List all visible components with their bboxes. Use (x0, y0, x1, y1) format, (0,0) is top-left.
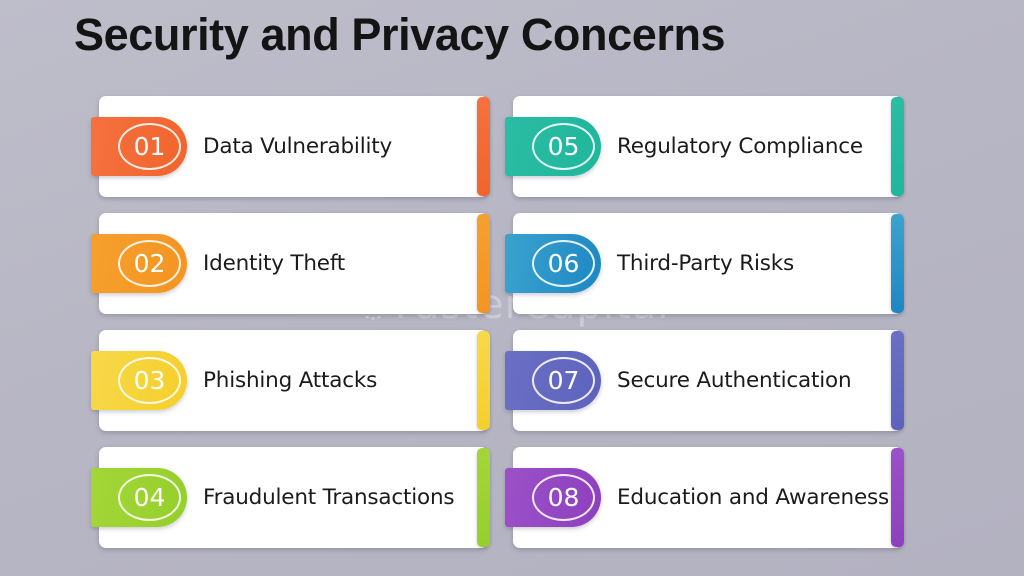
badge-oval-outline: 03 (118, 357, 181, 404)
card-number-badge: 03 (91, 351, 187, 410)
card-number: 08 (548, 485, 580, 511)
card-label: Identity Theft (203, 213, 481, 314)
slide-canvas: FasterCapital Security and Privacy Conce… (0, 0, 1024, 576)
badge-oval-outline: 08 (532, 474, 595, 521)
card-label: Data Vulnerability (203, 96, 481, 197)
card-number: 02 (134, 251, 166, 277)
card-number-badge: 04 (91, 468, 187, 527)
card-number-badge: 02 (91, 234, 187, 293)
concern-card-01[interactable]: 01 Data Vulnerability (99, 96, 488, 197)
card-number-badge: 07 (505, 351, 601, 410)
card-number: 01 (134, 134, 166, 160)
card-label: Fraudulent Transactions (203, 447, 481, 548)
card-number: 05 (548, 134, 580, 160)
card-label: Third-Party Risks (617, 213, 895, 314)
card-number: 06 (548, 251, 580, 277)
concern-card-02[interactable]: 02 Identity Theft (99, 213, 488, 314)
card-number-badge: 06 (505, 234, 601, 293)
card-number: 07 (548, 368, 580, 394)
card-label: Education and Awareness (617, 447, 895, 548)
concern-card-07[interactable]: 07 Secure Authentication (513, 330, 902, 431)
badge-oval-outline: 06 (532, 240, 595, 287)
card-number: 04 (134, 485, 166, 511)
concern-card-grid: 01 Data Vulnerability 02 Identity Theft (0, 96, 1024, 566)
concern-card-08[interactable]: 08 Education and Awareness (513, 447, 902, 548)
badge-oval-outline: 05 (532, 123, 595, 170)
badge-oval-outline: 01 (118, 123, 181, 170)
card-number-badge: 01 (91, 117, 187, 176)
card-label: Secure Authentication (617, 330, 895, 431)
card-label: Regulatory Compliance (617, 96, 895, 197)
badge-oval-outline: 02 (118, 240, 181, 287)
badge-oval-outline: 07 (532, 357, 595, 404)
card-number: 03 (134, 368, 166, 394)
concern-card-03[interactable]: 03 Phishing Attacks (99, 330, 488, 431)
badge-oval-outline: 04 (118, 474, 181, 521)
card-number-badge: 08 (505, 468, 601, 527)
concern-card-06[interactable]: 06 Third-Party Risks (513, 213, 902, 314)
concern-card-04[interactable]: 04 Fraudulent Transactions (99, 447, 488, 548)
concern-card-05[interactable]: 05 Regulatory Compliance (513, 96, 902, 197)
card-number-badge: 05 (505, 117, 601, 176)
page-title: Security and Privacy Concerns (74, 9, 725, 61)
card-label: Phishing Attacks (203, 330, 481, 431)
